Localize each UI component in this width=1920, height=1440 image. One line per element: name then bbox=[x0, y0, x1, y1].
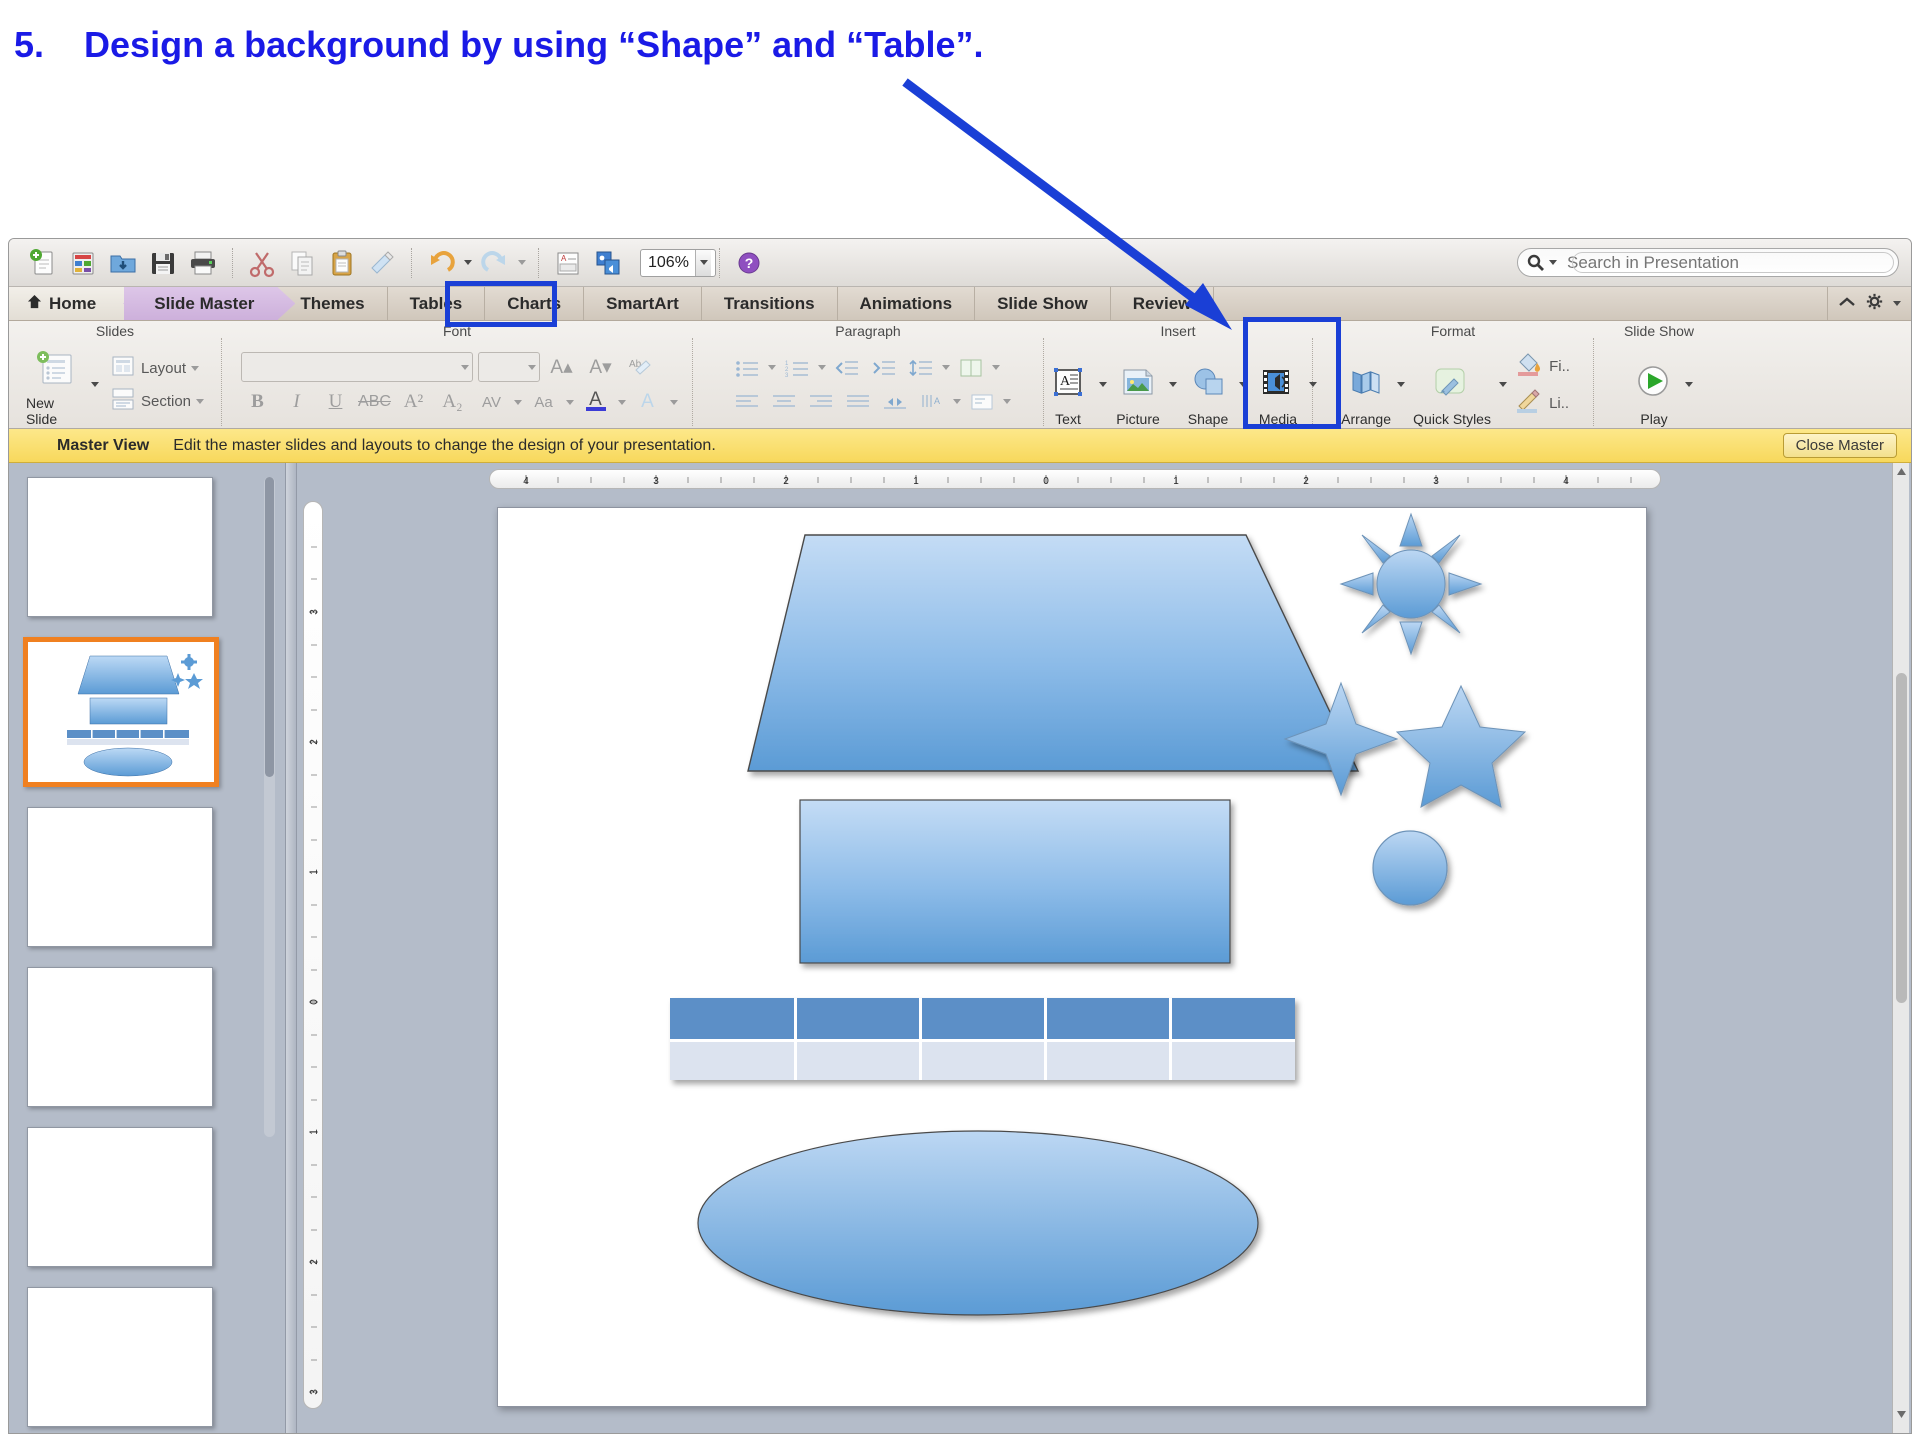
slide-thumbnail-preview bbox=[28, 642, 214, 782]
hruler-label-6: 2 bbox=[1303, 476, 1309, 487]
vruler-label-2: 1 bbox=[309, 869, 320, 875]
master-view-bar: Master View Edit the master slides and l… bbox=[9, 429, 1911, 463]
text-direction-button[interactable] bbox=[879, 388, 911, 416]
slide-thumbnail-pane[interactable] bbox=[9, 463, 285, 1434]
insert-shape-button[interactable]: Shape bbox=[1178, 343, 1238, 427]
media-browser-icon[interactable] bbox=[590, 245, 626, 281]
fill-label: Fi.. bbox=[1549, 358, 1570, 375]
insert-text-label: Text bbox=[1055, 411, 1081, 427]
align-text-button[interactable] bbox=[966, 388, 998, 416]
canvas-vertical-scrollbar[interactable] bbox=[1892, 463, 1909, 1434]
slide-thumbnail-4[interactable] bbox=[27, 967, 213, 1107]
tab-charts-label: Charts bbox=[507, 294, 561, 314]
zoom-level-value: 106% bbox=[648, 254, 689, 272]
hruler-label-8: 4 bbox=[1563, 476, 1569, 487]
slide-thumbnail-3[interactable] bbox=[27, 807, 213, 947]
hruler-label-5: 1 bbox=[1173, 476, 1179, 487]
align-center-button[interactable] bbox=[768, 388, 800, 416]
change-case-button[interactable]: Aa bbox=[527, 387, 561, 417]
slide-shapes bbox=[498, 508, 1647, 1407]
insert-shape-icon bbox=[1185, 361, 1231, 409]
text-box-icon[interactable]: A bbox=[550, 245, 586, 281]
decrease-font-size-button[interactable]: A▾ bbox=[584, 352, 618, 382]
tab-animations-label: Animations bbox=[860, 294, 953, 314]
ribbon-group-slides: Slides New Slide bbox=[9, 321, 221, 428]
underline-button[interactable]: U bbox=[319, 387, 353, 417]
page-title: 5. Design a background by using “Shape” … bbox=[0, 10, 1400, 80]
insert-text-icon: A bbox=[1045, 361, 1091, 409]
tab-transitions[interactable]: Transitions bbox=[702, 287, 838, 320]
insert-text-button[interactable]: A Text bbox=[1038, 343, 1098, 427]
play-label: Play bbox=[1640, 411, 1667, 427]
line-pencil-icon bbox=[1514, 387, 1544, 420]
hruler-label-1: 3 bbox=[653, 476, 659, 487]
tab-slide-master-label: Slide Master bbox=[154, 294, 254, 314]
slide-thumbnail-6[interactable] bbox=[27, 1287, 213, 1427]
redo-icon[interactable] bbox=[477, 245, 513, 281]
ribbon-group-paragraph: Paragraph 1 2 bbox=[693, 321, 1043, 428]
vertical-text-caret-icon[interactable] bbox=[953, 399, 961, 404]
cut-icon[interactable] bbox=[244, 245, 280, 281]
ribbon-group-slides-title: Slides bbox=[9, 321, 221, 341]
superscript-button[interactable]: A² bbox=[397, 387, 431, 417]
play-caret-icon[interactable] bbox=[1684, 367, 1694, 403]
vruler-label-3: 0 bbox=[309, 999, 320, 1005]
paste-icon[interactable] bbox=[324, 245, 360, 281]
tab-slide-show-label: Slide Show bbox=[997, 294, 1088, 314]
numbered-list-button[interactable]: 1 2 3 bbox=[781, 354, 813, 382]
new-slide-label: New Slide bbox=[26, 395, 86, 427]
hruler-label-0: 4 bbox=[523, 476, 529, 487]
slide-thumbnail-1[interactable] bbox=[27, 477, 213, 617]
new-slide-caret-icon[interactable] bbox=[90, 367, 100, 403]
tab-home[interactable]: Home bbox=[9, 287, 124, 320]
copy-icon[interactable] bbox=[284, 245, 320, 281]
print-icon[interactable] bbox=[185, 245, 221, 281]
increase-font-size-button[interactable]: A▴ bbox=[545, 352, 579, 382]
vruler-label-0: 3 bbox=[309, 609, 320, 615]
undo-icon[interactable] bbox=[423, 245, 459, 281]
page-title-number: 5. bbox=[14, 24, 44, 66]
slide-canvas-area: 4 3 2 1 0 1 2 3 4 bbox=[297, 463, 1911, 1434]
ellipse-shape bbox=[698, 1131, 1258, 1315]
gear-icon[interactable] bbox=[1866, 293, 1883, 315]
decrease-indent-button[interactable] bbox=[831, 354, 863, 382]
table-shape bbox=[670, 998, 1295, 1080]
character-spacing-button[interactable]: AV bbox=[475, 387, 509, 417]
svg-text:?: ? bbox=[745, 255, 754, 271]
ribbon-group-format: Format Arrange bbox=[1313, 321, 1593, 428]
layout-label: Layout bbox=[141, 360, 186, 377]
slide-thumbnail-2[interactable] bbox=[23, 637, 219, 787]
ribbon-content: Slides New Slide bbox=[9, 321, 1911, 429]
align-right-button[interactable] bbox=[805, 388, 837, 416]
close-master-button[interactable]: Close Master bbox=[1783, 433, 1897, 458]
quick-styles-button[interactable]: Quick Styles bbox=[1406, 343, 1498, 427]
home-icon bbox=[27, 294, 42, 314]
ribbon-group-slideshow-title: Slide Show bbox=[1594, 321, 1724, 341]
layout-button[interactable]: Layout bbox=[110, 354, 204, 383]
bold-button[interactable]: B bbox=[241, 387, 275, 417]
bulleted-list-button[interactable] bbox=[731, 354, 763, 382]
tab-smartart-label: SmartArt bbox=[606, 294, 679, 314]
tab-smartart[interactable]: SmartArt bbox=[584, 287, 702, 320]
open-icon[interactable] bbox=[105, 245, 141, 281]
hruler-label-2: 2 bbox=[783, 476, 789, 487]
svg-text:A: A bbox=[561, 254, 567, 263]
justify-button[interactable] bbox=[842, 388, 874, 416]
strikethrough-button[interactable]: ABC bbox=[358, 387, 392, 417]
hruler-label-3: 1 bbox=[913, 476, 919, 487]
svg-text:A: A bbox=[1060, 374, 1071, 389]
insert-picture-label: Picture bbox=[1116, 411, 1160, 427]
subscript-button[interactable]: A₂ bbox=[436, 387, 470, 417]
ribbon-tab-bar: Home Slide Master Themes Tables Charts S… bbox=[9, 287, 1911, 321]
svg-text:3: 3 bbox=[785, 373, 789, 378]
tab-animations[interactable]: Animations bbox=[838, 287, 976, 320]
character-spacing-caret-icon[interactable] bbox=[514, 400, 522, 405]
text-highlight-caret-icon[interactable] bbox=[670, 400, 678, 405]
master-view-title: Master View bbox=[57, 437, 149, 455]
pane-splitter[interactable] bbox=[285, 463, 297, 1434]
insert-shape-caret-icon[interactable] bbox=[1238, 367, 1248, 403]
font-color-glyph: A bbox=[589, 393, 602, 407]
search-box[interactable] bbox=[1517, 248, 1899, 277]
ribbon-group-format-title: Format bbox=[1313, 321, 1593, 341]
thumbnail-pane-scrollbar[interactable] bbox=[264, 477, 275, 1137]
quick-styles-label: Quick Styles bbox=[1413, 411, 1491, 427]
increase-indent-button[interactable] bbox=[868, 354, 900, 382]
work-area: 4 3 2 1 0 1 2 3 4 bbox=[9, 463, 1911, 1434]
canvas-scroll-thumb[interactable] bbox=[1896, 673, 1907, 1003]
line-spacing-button[interactable] bbox=[905, 354, 937, 382]
layout-icon bbox=[110, 354, 136, 383]
ribbon-group-slideshow: Slide Show Play bbox=[1594, 321, 1724, 428]
tab-review[interactable]: Review bbox=[1111, 287, 1215, 320]
clear-formatting-button[interactable]: Ab bbox=[623, 352, 657, 382]
five-point-star-shape bbox=[1397, 686, 1525, 807]
section-caret-icon[interactable] bbox=[196, 399, 204, 404]
columns-caret-icon[interactable] bbox=[992, 365, 1000, 370]
ribbon-controls bbox=[1827, 287, 1911, 320]
quick-styles-icon bbox=[1426, 361, 1478, 409]
insert-shape-label: Shape bbox=[1188, 411, 1228, 427]
ribbon-settings-caret-icon[interactable] bbox=[1893, 301, 1901, 306]
powerpoint-window: A 106% ? bbox=[8, 238, 1912, 1434]
align-text-caret-icon[interactable] bbox=[1003, 399, 1011, 404]
arrange-button[interactable]: Arrange bbox=[1336, 343, 1396, 427]
ribbon-group-paragraph-title: Paragraph bbox=[693, 321, 1043, 341]
slide-thumbnail-5[interactable] bbox=[27, 1127, 213, 1267]
tab-themes-label: Themes bbox=[300, 294, 364, 314]
close-master-label: Close Master bbox=[1796, 437, 1884, 454]
line-button[interactable]: Li.. bbox=[1514, 387, 1570, 420]
save-icon[interactable] bbox=[145, 245, 181, 281]
tab-home-label: Home bbox=[49, 294, 96, 314]
slide-canvas[interactable] bbox=[497, 507, 1647, 1407]
fill-button[interactable]: Fi.. bbox=[1514, 350, 1570, 383]
ribbon-group-insert: Insert A bbox=[1044, 321, 1312, 428]
insert-picture-icon bbox=[1115, 361, 1161, 409]
ribbon-group-insert-title: Insert bbox=[1044, 321, 1312, 341]
new-slide-icon bbox=[34, 345, 78, 393]
ribbon-group-font: Font A▴ A▾ Ab bbox=[222, 321, 692, 428]
arrange-caret-icon[interactable] bbox=[1396, 367, 1406, 403]
search-icon[interactable] bbox=[1526, 253, 1557, 273]
font-name-caret-icon[interactable] bbox=[461, 365, 469, 370]
search-input[interactable] bbox=[1561, 253, 1898, 273]
rectangle-shape bbox=[800, 800, 1230, 963]
quick-access-toolbar: A 106% ? bbox=[9, 239, 1911, 287]
arrange-label: Arrange bbox=[1341, 411, 1391, 427]
chevron-up-icon[interactable] bbox=[1838, 295, 1856, 313]
tab-review-label: Review bbox=[1133, 294, 1192, 314]
tab-tables-label: Tables bbox=[410, 294, 463, 314]
font-color-caret-icon[interactable] bbox=[618, 400, 626, 405]
hruler-label-7: 3 bbox=[1433, 476, 1439, 487]
tab-slide-show[interactable]: Slide Show bbox=[975, 287, 1111, 320]
master-view-description: Edit the master slides and layouts to ch… bbox=[173, 437, 716, 455]
tab-tables[interactable]: Tables bbox=[388, 287, 486, 320]
vertical-text-button[interactable]: A bbox=[916, 388, 948, 416]
ribbon-group-font-title: Font bbox=[222, 321, 692, 341]
vruler-label-4: 1 bbox=[309, 1129, 320, 1135]
align-left-button[interactable] bbox=[731, 388, 763, 416]
zoom-level-combobox[interactable]: 106% bbox=[640, 249, 716, 277]
tab-charts[interactable]: Charts bbox=[485, 287, 584, 320]
insert-media-button[interactable]: Media bbox=[1248, 343, 1308, 427]
insert-text-caret-icon[interactable] bbox=[1098, 367, 1108, 403]
svg-text:A: A bbox=[934, 396, 940, 406]
sun-shape bbox=[1341, 514, 1481, 654]
section-icon bbox=[110, 387, 136, 416]
line-spacing-caret-icon[interactable] bbox=[942, 365, 950, 370]
hruler-label-4: 0 bbox=[1043, 476, 1049, 487]
page-title-text: Design a background by using “Shape” and… bbox=[84, 24, 983, 66]
play-icon bbox=[1631, 361, 1677, 409]
scroll-down-icon[interactable] bbox=[1893, 1406, 1910, 1422]
circle-shape bbox=[1373, 831, 1447, 905]
new-from-template-icon[interactable] bbox=[65, 245, 101, 281]
tab-slide-master[interactable]: Slide Master bbox=[124, 287, 278, 320]
vruler-label-1: 2 bbox=[309, 739, 320, 745]
horizontal-ruler: 4 3 2 1 0 1 2 3 4 bbox=[489, 469, 1661, 489]
insert-media-icon bbox=[1255, 361, 1301, 409]
play-button[interactable]: Play bbox=[1624, 343, 1684, 427]
redo-dropdown-caret-icon[interactable] bbox=[517, 245, 527, 281]
numbered-list-caret-icon[interactable] bbox=[818, 365, 826, 370]
font-size-combobox[interactable] bbox=[478, 352, 540, 382]
layout-caret-icon[interactable] bbox=[191, 366, 199, 371]
insert-media-label: Media bbox=[1259, 411, 1297, 427]
bulleted-list-caret-icon[interactable] bbox=[768, 365, 776, 370]
format-painter-icon[interactable] bbox=[364, 245, 400, 281]
italic-button[interactable]: I bbox=[280, 387, 314, 417]
fill-bucket-icon bbox=[1514, 350, 1544, 383]
ribbon-tab-filler bbox=[1214, 287, 1827, 320]
text-highlight-button[interactable]: A bbox=[631, 387, 665, 417]
vertical-ruler: 3 2 1 0 1 2 3 bbox=[303, 501, 323, 1409]
vruler-label-6: 3 bbox=[309, 1389, 320, 1395]
trapezoid-shape bbox=[748, 535, 1358, 771]
columns-button[interactable] bbox=[955, 354, 987, 382]
section-label: Section bbox=[141, 393, 191, 410]
ribbon-filler bbox=[1724, 321, 1911, 428]
line-label: Li.. bbox=[1549, 395, 1569, 412]
font-name-combobox[interactable] bbox=[241, 352, 473, 382]
vruler-label-5: 2 bbox=[309, 1259, 320, 1265]
undo-dropdown-caret-icon[interactable] bbox=[463, 245, 473, 281]
change-case-caret-icon[interactable] bbox=[566, 400, 574, 405]
font-size-caret-icon[interactable] bbox=[528, 365, 536, 370]
font-color-button[interactable]: A bbox=[579, 387, 613, 417]
insert-picture-button[interactable]: Picture bbox=[1108, 343, 1168, 427]
scroll-up-icon[interactable] bbox=[1893, 463, 1910, 479]
new-presentation-icon[interactable] bbox=[25, 245, 61, 281]
help-icon[interactable]: ? bbox=[731, 245, 767, 281]
new-slide-button[interactable]: New Slide bbox=[26, 343, 86, 427]
insert-picture-caret-icon[interactable] bbox=[1168, 367, 1178, 403]
tab-transitions-label: Transitions bbox=[724, 294, 815, 314]
quick-styles-caret-icon[interactable] bbox=[1498, 367, 1508, 403]
arrange-icon bbox=[1343, 361, 1389, 409]
section-button[interactable]: Section bbox=[110, 387, 204, 416]
zoom-dropdown-caret-icon[interactable] bbox=[695, 250, 711, 276]
